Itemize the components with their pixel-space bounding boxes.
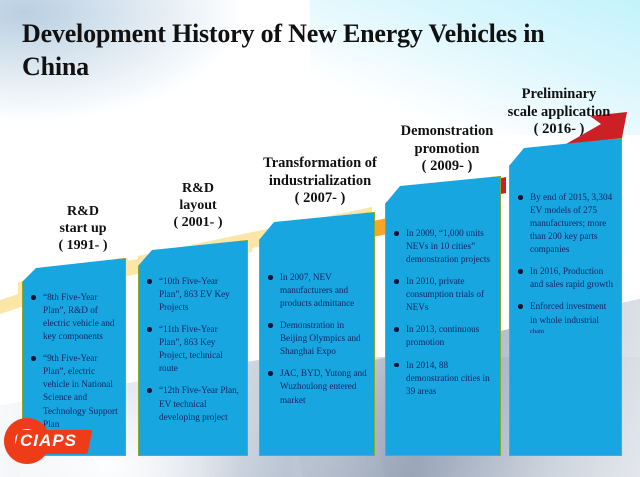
stage-caption-5-line-3: ( 2016- ) [478,121,640,139]
stage-caption-4-line-2: promotion [372,141,522,159]
stage-panel-4[interactable]: In 2009, “1,000 units NEVs in 10 cities”… [385,176,501,456]
list-item: “11th Five-Year Plan”, 863 Key Project, … [147,323,241,375]
list-item: Demonstration in Beijing Olympics and Sh… [268,319,368,358]
stage-panel-4-body: In 2009, “1,000 units NEVs in 10 cities”… [394,227,494,407]
stage-panel-2-body: “10th Five-Year Plan”, 863 EV Key Projec… [147,275,241,433]
list-item: In 2014, 88 demonstration cities in 39 a… [394,359,494,398]
list-item-text: Enforced investment in whole industrial [530,301,606,324]
stage-caption-1-line-1: R&D [18,203,148,220]
list-item: In 2007, NEV manufacturers and products … [268,271,368,310]
list-item: In 2013, continuous promotion [394,323,494,349]
stage-caption-2-line-3: ( 2001- ) [138,214,258,231]
list-item: In 2009, “1,000 units NEVs in 10 cities”… [394,227,494,266]
list-item: Enforced investment in whole industrial … [518,300,615,335]
ciaps-logo: CIAPS [2,416,88,468]
list-item-text-continued: chain [530,327,615,336]
stage-panel-3-body: In 2007, NEV manufacturers and products … [268,271,368,416]
stage-caption-5-line-1: Preliminary [478,86,640,104]
list-item: “12th Five-Year Plan, EV technical devel… [147,384,241,423]
stage-panel-2[interactable]: “10th Five-Year Plan”, 863 EV Key Projec… [138,240,248,456]
list-item: “10th Five-Year Plan”, 863 EV Key Projec… [147,275,241,314]
page-title: Development History of New Energy Vehicl… [22,18,612,83]
stage-caption-3-line-3: ( 2007- ) [240,190,400,208]
stage-caption-4-line-3: ( 2009- ) [372,158,522,176]
stage-caption-1-line-2: start up [18,220,148,237]
stage-caption-1-line-3: ( 1991- ) [18,237,148,254]
stage-panel-3[interactable]: In 2007, NEV manufacturers and products … [259,212,375,456]
list-item: In 2016, Production and sales rapid grow… [518,265,615,291]
slide-canvas: Development History of New Energy Vehicl… [0,0,640,477]
logo-wordmark-text: CIAPS [20,431,92,451]
list-item: “8th Five-Year Plan”, R&D of electric ve… [31,291,119,343]
stage-caption-5: Preliminary scale application ( 2016- ) [478,86,640,139]
stage-caption-5-line-2: scale application [478,104,640,122]
stage-caption-1: R&D start up ( 1991- ) [18,203,148,254]
list-item: By end of 2015, 3,304 EV models of 275 m… [518,191,615,256]
list-item: JAC, BYD, Yutong and Wuzhoulong entered … [268,367,368,406]
stage-panel-5-body: By end of 2015, 3,304 EV models of 275 m… [518,191,615,345]
list-item: In 2010, private consumption trials of N… [394,275,494,314]
stage-panel-5[interactable]: By end of 2015, 3,304 EV models of 275 m… [509,138,622,456]
